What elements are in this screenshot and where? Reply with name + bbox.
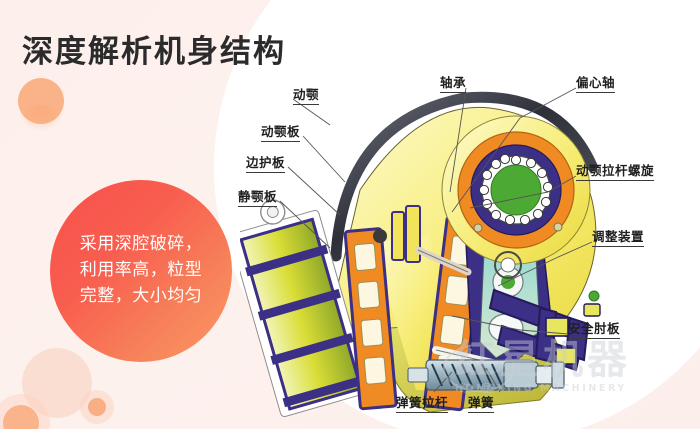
label-jing-e-ban: 静颚板 [238,186,277,207]
label-an-quan-zhou-ban: 安全肘板 [568,318,620,339]
label-tan-huang-la-gan: 弹簧拉杆 [396,392,448,413]
label-tan-huang: 弹簧 [468,392,494,413]
label-zhou-cheng: 轴承 [440,72,466,93]
infographic-canvas: 深度解析机身结构 [0,0,700,429]
label-pian-xin-zhou: 偏心轴 [576,72,615,93]
label-bian-hu-ban: 边护板 [246,152,285,173]
callout-leader-lines [0,0,700,429]
label-tiao-zheng-zhuang-zhi: 调整装置 [592,226,644,247]
label-dong-e-la-gan-luo-xuan: 动颚拉杆螺旋 [576,160,654,181]
label-dong-e: 动颚 [293,84,319,105]
label-dong-e-ban: 动颚板 [261,121,300,142]
